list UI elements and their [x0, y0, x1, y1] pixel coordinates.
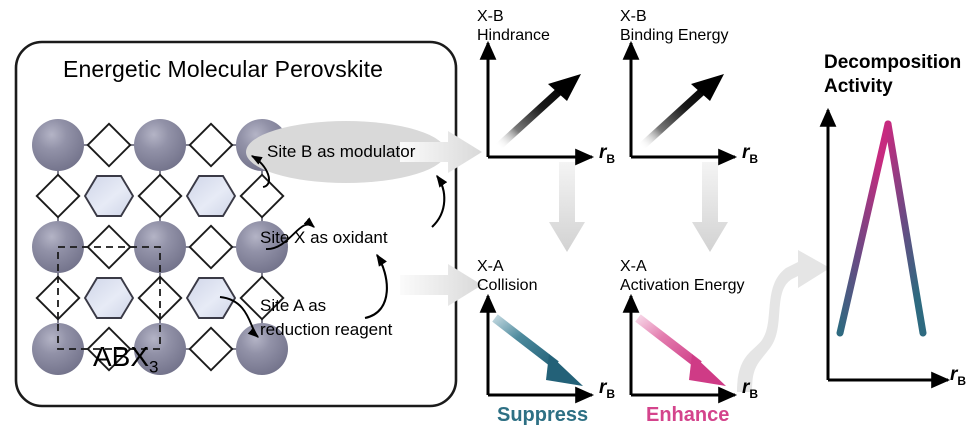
- chart-x-b-binding-energy: [631, 43, 735, 157]
- gray-down-arrow-2: [692, 162, 728, 252]
- chart-x-b-hindrance-title-line2: Hindrance: [477, 27, 550, 45]
- decomposition-activity-xlabel: rB: [950, 364, 966, 388]
- site-a-label-line1[interactable]: Site A as: [260, 296, 326, 315]
- site-a-label-line2[interactable]: reduction reagent: [260, 320, 392, 339]
- formula-label: ABX3: [93, 341, 159, 377]
- enhance-annotation: Enhance: [646, 404, 729, 426]
- chart-decomposition-activity: [828, 110, 948, 380]
- chart-x-a-collision-title-line1: X-A: [477, 258, 504, 276]
- diagram-canvas: Energetic Molecular Perovskite ABX3 Site…: [0, 0, 976, 445]
- trend-arrow-down: [638, 318, 726, 386]
- formula-base: ABX: [93, 341, 149, 372]
- chart-x-a-collision-xlabel: rB: [599, 377, 615, 401]
- chart-x-a-activation-energy-title-line2: Activation Energy: [620, 277, 745, 295]
- chart-x-b-binding-energy-xlabel: rB: [742, 142, 758, 166]
- xlabel-sub: B: [957, 374, 966, 388]
- page-title: Energetic Molecular Perovskite: [63, 57, 383, 83]
- chart-x-a-collision-title-line2: Collision: [477, 277, 537, 295]
- xlabel-sub: B: [606, 152, 615, 166]
- chart-x-a-activation-energy: [631, 296, 735, 395]
- xlabel-sub: B: [749, 152, 758, 166]
- chart-x-b-binding-energy-title-line2: Binding Energy: [620, 27, 729, 45]
- chart-x-b-hindrance-xlabel: rB: [599, 142, 615, 166]
- chart-x-b-hindrance-title-line1: X-B: [477, 8, 504, 26]
- chart-x-a-activation-energy-xlabel: rB: [742, 377, 758, 401]
- volcano-curve: [840, 124, 923, 333]
- suppress-annotation: Suppress: [497, 404, 588, 426]
- trend-arrow-up: [498, 74, 581, 147]
- swoosh-arrow: [737, 250, 830, 392]
- chart-x-b-binding-energy-title-line1: X-B: [620, 8, 647, 26]
- decomposition-activity-title-line2: Activity: [824, 76, 893, 98]
- xlabel-sub: B: [749, 387, 758, 401]
- trend-arrow-down: [495, 318, 583, 386]
- site-x-label[interactable]: Site X as oxidant: [260, 228, 388, 247]
- xlabel-sub: B: [606, 387, 615, 401]
- gray-down-arrows: [549, 162, 728, 252]
- gray-down-arrow-1: [549, 162, 585, 252]
- trend-arrow-up: [641, 74, 724, 147]
- chart-x-a-activation-energy-title-line1: X-A: [620, 258, 647, 276]
- site-b-label[interactable]: Site B as modulator: [267, 142, 415, 161]
- formula-subscript: 3: [149, 358, 158, 377]
- chart-x-a-collision: [488, 296, 592, 395]
- chart-x-b-hindrance: [488, 43, 592, 157]
- decomposition-activity-title-line1: Decomposition: [824, 52, 961, 74]
